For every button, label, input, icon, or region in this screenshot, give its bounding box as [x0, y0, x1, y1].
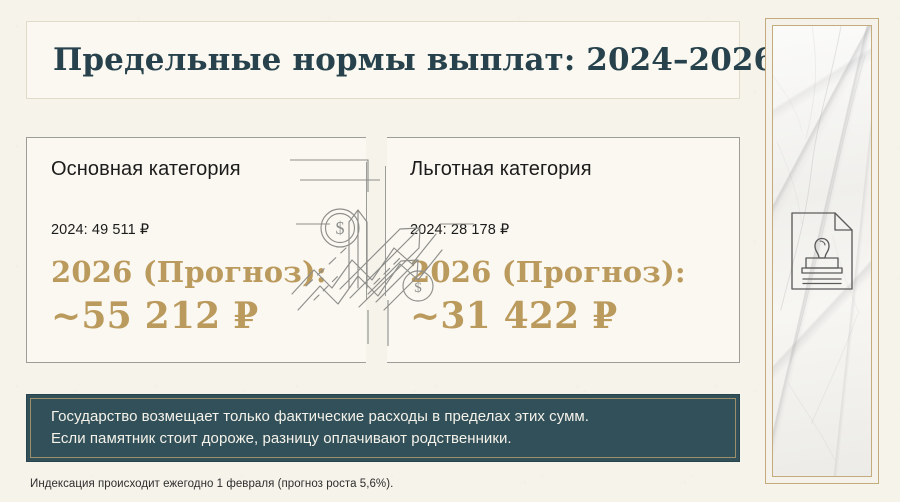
card-benefit-heading: Льготная категория — [386, 138, 739, 181]
card-benefit-current-value: 2024: 28 178 ₽ — [386, 181, 739, 238]
card-basic-forecast: 2026 (Прогноз): ~55 212 ₽ — [27, 238, 366, 340]
document-stamp-icon — [789, 210, 855, 292]
card-benefit-forecast: 2026 (Прогноз): ~31 422 ₽ — [386, 238, 739, 340]
card-edge-notch — [384, 136, 387, 166]
card-basic-forecast-label: 2026 (Прогноз): — [51, 255, 327, 289]
note-line-1: Государство возмещает только фактические… — [51, 408, 589, 425]
card-basic-heading: Основная категория — [27, 138, 366, 181]
page-title: Предельные нормы выплат: 2024–2026 — [27, 42, 775, 78]
card-basic-category: Основная категория 2024: 49 511 ₽ 2026 (… — [26, 137, 367, 363]
card-edge-notch — [366, 300, 369, 364]
card-edge-notch — [384, 296, 387, 364]
card-benefit-forecast-amount: ~31 422 ₽ — [410, 292, 739, 340]
infographic-slide: Предельные нормы выплат: 2024–2026 Основ… — [0, 0, 900, 502]
card-benefit-forecast-label: 2026 (Прогноз): — [410, 255, 686, 289]
note-banner: Государство возмещает только фактические… — [26, 394, 740, 462]
note-text: Государство возмещает только фактические… — [31, 406, 589, 451]
marble-panel-inner-border — [772, 25, 872, 477]
card-edge-notch — [366, 136, 369, 162]
note-banner-inner-border: Государство возмещает только фактические… — [30, 398, 736, 458]
card-benefit-category: Льготная категория 2024: 28 178 ₽ 2026 (… — [385, 137, 740, 363]
card-basic-forecast-amount: ~55 212 ₽ — [51, 292, 366, 340]
card-basic-current-value: 2024: 49 511 ₽ — [27, 181, 366, 238]
title-box: Предельные нормы выплат: 2024–2026 — [26, 21, 740, 99]
footnote: Индексация происходит ежегодно 1 февраля… — [30, 478, 393, 490]
marble-side-panel — [765, 18, 879, 484]
note-line-2: Если памятник стоит дороже, разницу опла… — [51, 430, 512, 447]
